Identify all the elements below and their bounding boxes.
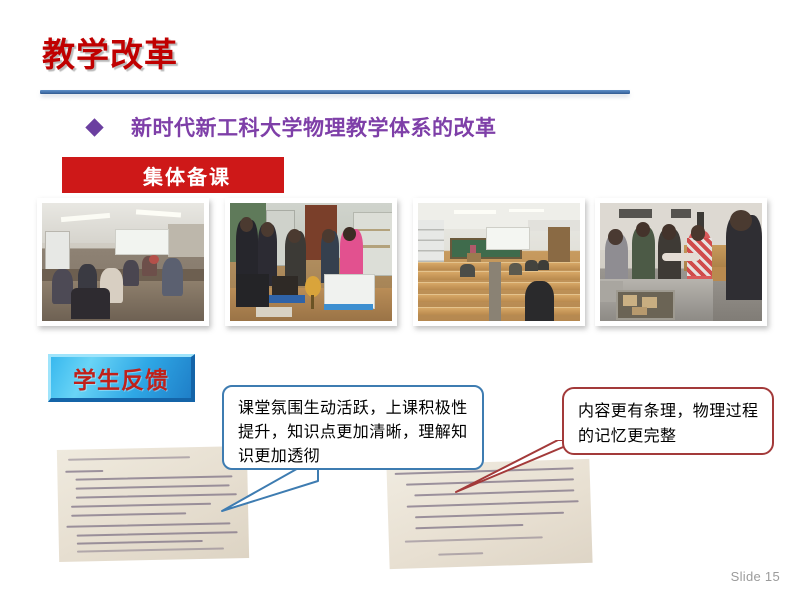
photo-scene-meeting-room	[42, 203, 204, 321]
student-feedback-badge-label: 学生反馈	[73, 361, 169, 395]
callout-blue-text: 课堂氛围生动活跃，上课积极性提升，知识点更加清晰，理解知识更加透彻	[238, 397, 469, 469]
photo-strip	[37, 198, 767, 326]
slide-number: Slide 15	[731, 569, 780, 584]
subtitle-row: 新时代新工科大学物理教学体系的改革	[88, 112, 497, 142]
handwriting-lines	[65, 453, 242, 555]
diamond-bullet-icon	[85, 118, 103, 136]
callout-red-text: 内容更有条理，物理过程的记忆更完整	[578, 399, 759, 449]
photo-scene-lab-table-group	[230, 203, 392, 321]
page-title: 教学改革	[42, 28, 178, 76]
photo-scene-apparatus-demo	[600, 203, 762, 321]
handwritten-feedback-page-1	[57, 446, 249, 562]
handwritten-feedback-page-2	[386, 459, 592, 569]
photo-thumbnail-4	[595, 198, 767, 326]
section-banner-label: 集体备课	[115, 161, 231, 190]
photo-thumbnail-1	[37, 198, 209, 326]
callout-bubble-blue: 课堂氛围生动活跃，上课积极性提升，知识点更加清晰，理解知识更加透彻	[222, 385, 484, 470]
title-divider	[40, 90, 630, 94]
student-feedback-badge: 学生反馈	[48, 354, 195, 402]
slide-canvas: 教学改革 新时代新工科大学物理教学体系的改革 集体备课	[0, 0, 800, 600]
photo-thumbnail-2	[225, 198, 397, 326]
subtitle-text: 新时代新工科大学物理教学体系的改革	[131, 112, 497, 142]
section-banner-collective-lesson-planning: 集体备课	[62, 157, 284, 193]
handwriting-lines	[395, 465, 585, 562]
photo-thumbnail-3	[413, 198, 585, 326]
photo-scene-lecture-hall	[418, 203, 580, 321]
callout-bubble-red: 内容更有条理，物理过程的记忆更完整	[562, 387, 774, 455]
